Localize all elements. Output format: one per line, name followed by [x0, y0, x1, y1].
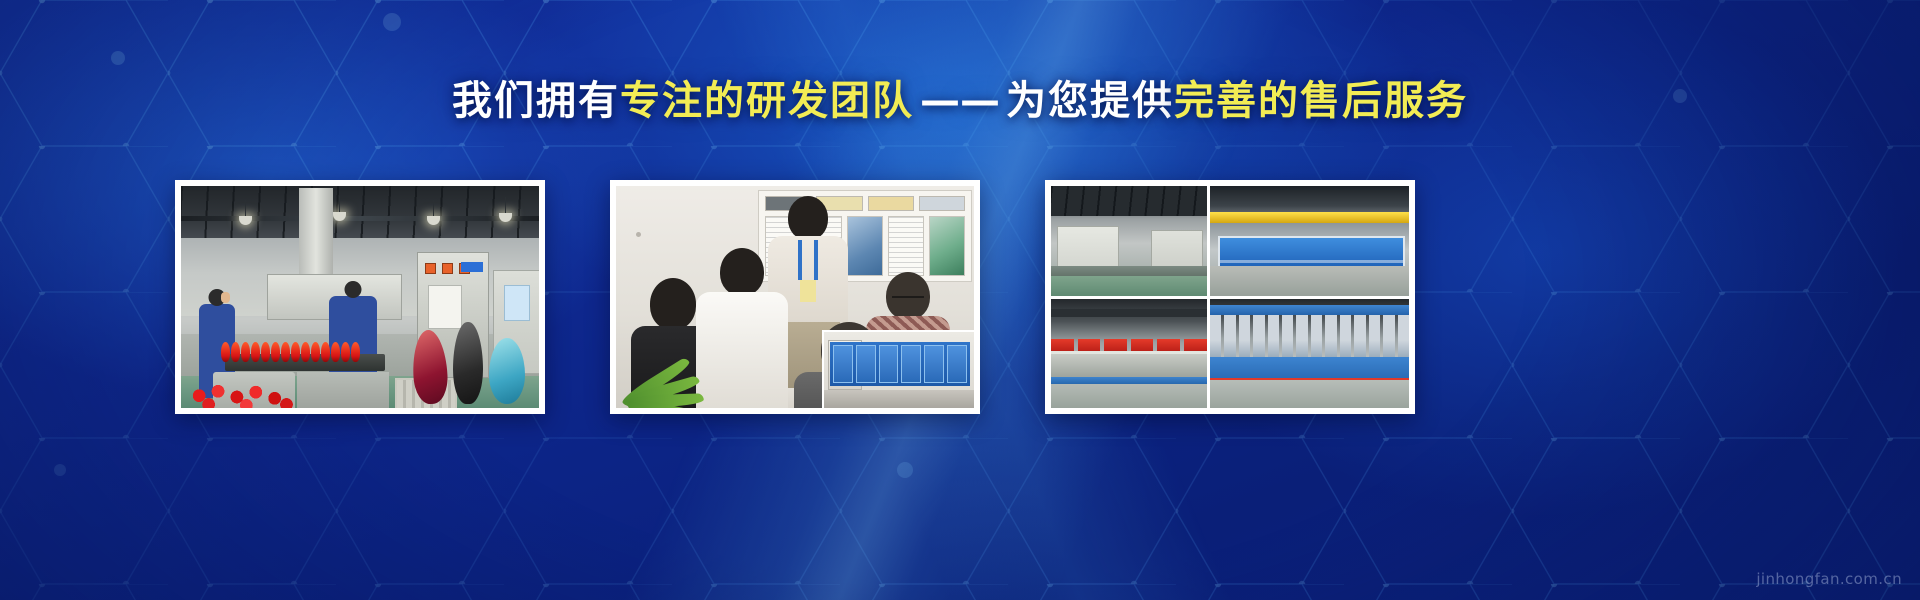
hanger [1369, 315, 1380, 361]
roof-truss [181, 186, 539, 244]
yellow-pipe [1210, 212, 1409, 223]
plant-photo-tunnel-oven [1051, 186, 1207, 296]
promo-banner: 我们拥有专注的研发团队——为您提供完善的售后服务 [0, 0, 1920, 600]
foreground-plant [616, 338, 712, 408]
lanyard [798, 240, 818, 280]
hanger [1268, 315, 1279, 361]
red-vase [281, 342, 290, 362]
headline-segment-2: 专注的研发团队 [620, 78, 914, 124]
worker-head [345, 281, 362, 298]
control-knob [442, 263, 453, 274]
machine-module [833, 345, 853, 383]
overhead-rail [1210, 305, 1409, 315]
red-vase [321, 342, 330, 362]
red-ball-pile [185, 364, 303, 408]
red-vase [241, 342, 250, 362]
workshop-floor [1210, 266, 1409, 296]
hanger [1296, 315, 1307, 361]
poster-thumb [919, 196, 965, 211]
photo-gallery [0, 180, 1920, 414]
hanger [1340, 315, 1351, 361]
panel-label [461, 262, 483, 272]
control-knob [425, 263, 436, 274]
hanger [1224, 315, 1235, 361]
machine-base [824, 390, 974, 408]
red-vase [261, 342, 270, 362]
red-vase [291, 342, 300, 362]
plant-photo-blue-tunnel [1210, 186, 1409, 296]
hanger [1282, 315, 1293, 361]
poster-thumb [868, 196, 914, 211]
red-vase [311, 342, 320, 362]
photo-card-left[interactable] [175, 180, 545, 414]
wall-fixture [636, 232, 641, 237]
worker-face [221, 292, 230, 303]
plant-photo-conveyor [1051, 299, 1207, 409]
workshop-floor [1051, 384, 1207, 408]
machine-module [901, 345, 921, 383]
photo-card-center[interactable] [610, 180, 980, 414]
hanger [1325, 315, 1336, 361]
exhaust-duct [299, 188, 333, 278]
person-head [788, 196, 828, 240]
glass-vase-blue [489, 338, 525, 404]
poster-sheet [888, 216, 924, 276]
photo-center-image [616, 186, 974, 408]
hanger [1239, 315, 1250, 361]
hanger [1383, 315, 1394, 361]
red-vase [331, 342, 340, 362]
red-vase [271, 342, 280, 362]
headline-segment-4: 为您提供 [1006, 78, 1174, 124]
red-vase [301, 342, 310, 362]
person-head [720, 248, 764, 296]
machine-module [856, 345, 876, 383]
conveyor-belt [1051, 351, 1207, 377]
hanger [1253, 315, 1264, 361]
person-head [650, 278, 696, 330]
headline-segment-5: 完善的售后服务 [1174, 78, 1468, 124]
site-watermark: jinhongfan.com.cn [1756, 570, 1902, 588]
machine-module [924, 345, 944, 383]
poster-diagram [847, 216, 883, 276]
headline-segment-1: 我们拥有 [452, 78, 620, 124]
id-badge [800, 280, 816, 302]
workshop-floor [1210, 380, 1409, 408]
hanger [1311, 315, 1322, 361]
red-vase [351, 342, 360, 362]
hanger [1354, 315, 1365, 361]
photo-right-image [1051, 186, 1409, 408]
workshop-floor [1051, 276, 1207, 296]
red-vase [341, 342, 350, 362]
headline-container: 我们拥有专注的研发团队——为您提供完善的售后服务 [0, 78, 1920, 125]
headline-em-dash: —— [914, 78, 1006, 124]
red-vase [221, 342, 230, 362]
poster-diagram [929, 216, 965, 276]
red-vase-row [221, 336, 389, 362]
panel-document [428, 285, 462, 329]
cabinet-sticker [504, 285, 530, 321]
eyeglasses [892, 296, 924, 304]
machine-module-row [830, 342, 970, 386]
roof-structure [1051, 186, 1207, 216]
red-vase [251, 342, 260, 362]
hanger [1398, 315, 1409, 361]
plant-photo-hanging-line [1210, 299, 1409, 409]
overhead-beam [1051, 309, 1207, 317]
photo-card-right[interactable] [1045, 180, 1415, 414]
machine-module [947, 345, 967, 383]
glass-vase-black [453, 322, 483, 404]
process-tub [297, 372, 389, 408]
machine-module [879, 345, 899, 383]
hanger [1210, 315, 1221, 361]
hanger-row [1210, 315, 1409, 361]
red-vase [231, 342, 240, 362]
photo-left-image [181, 186, 539, 408]
machine-inset-photo [822, 330, 974, 408]
banner-headline: 我们拥有专注的研发团队——为您提供完善的售后服务 [452, 78, 1468, 125]
